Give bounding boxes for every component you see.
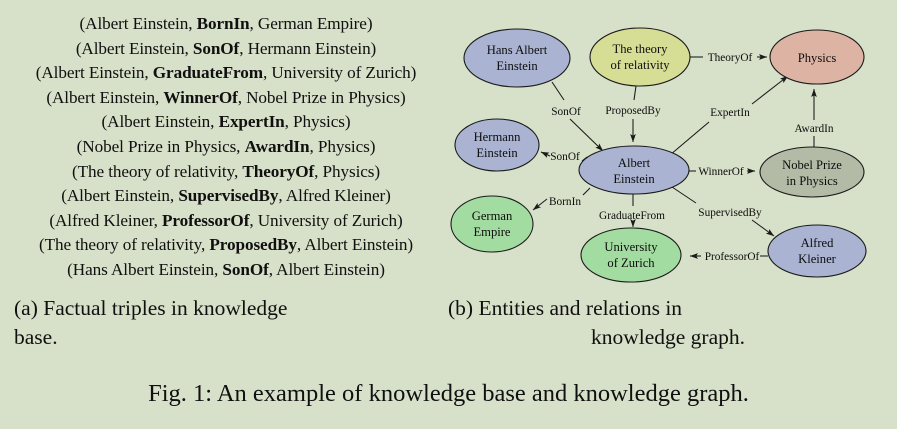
node-label-line1: Hans Albert (487, 43, 548, 57)
triple-row: (Albert Einstein, BornIn, German Empire) (0, 12, 452, 37)
triple-row: (Albert Einstein, GraduateFrom, Universi… (0, 61, 452, 86)
node-label-line2: Kleiner (798, 252, 837, 266)
triple-row: (Albert Einstein, SonOf, Hermann Einstei… (0, 37, 452, 62)
subcaption-b-line2: knowledge graph. (448, 323, 888, 352)
node-label-line2: of relativity (610, 58, 670, 72)
figure-container: (Albert Einstein, BornIn, German Empire)… (0, 0, 897, 429)
edge-label-winnerof: WinnerOf (698, 166, 744, 178)
node-ellipse[interactable] (760, 147, 864, 197)
triple-row: (Albert Einstein, SupervisedBy, Alfred K… (0, 184, 452, 209)
triple-row: (Albert Einstein, WinnerOf, Nobel Prize … (0, 86, 452, 111)
knowledge-graph-svg: TheoryOf ProposedBy ExpertIn AwardIn Son… (447, 0, 897, 290)
triple-subject: (Albert Einstein, (102, 112, 219, 131)
node-ellipse[interactable] (581, 228, 681, 282)
node-label-line1: German (472, 209, 513, 223)
triple-row: (Hans Albert Einstein, SonOf, Albert Ein… (0, 258, 452, 283)
triple-object: , Physics) (314, 162, 380, 181)
triple-object: , Physics) (309, 137, 375, 156)
node-label-line2: Empire (473, 225, 510, 239)
triples-list: (Albert Einstein, BornIn, German Empire)… (0, 12, 452, 283)
edge-expertin-lower (670, 122, 709, 155)
edge-label-bornin: BornIn (549, 196, 581, 208)
edge-label-theoryof: TheoryOf (708, 52, 753, 64)
node-alfred-kleiner[interactable]: Alfred Kleiner (768, 225, 866, 277)
edge-label-sonof-hans: SonOf (551, 106, 581, 118)
node-hans-albert-einstein[interactable]: Hans Albert Einstein (464, 29, 570, 87)
triple-object: , Albert Einstein) (269, 260, 385, 279)
triple-subject: (Albert Einstein, (46, 88, 163, 107)
subcaption-a-line1: (a) Factual triples in knowledge (14, 294, 434, 323)
node-hermann-einstein[interactable]: Hermann Einstein (455, 119, 539, 171)
triple-subject: (The theory of relativity, (72, 162, 242, 181)
triple-row: (The theory of relativity, TheoryOf, Phy… (0, 160, 452, 185)
triple-object: , Albert Einstein) (297, 235, 413, 254)
triple-object: , Physics) (285, 112, 351, 131)
triple-relation: SonOf (193, 39, 239, 58)
triple-row: (Nobel Prize in Physics, AwardIn, Physic… (0, 135, 452, 160)
node-ellipse[interactable] (579, 146, 689, 194)
node-ellipse[interactable] (464, 29, 570, 87)
edge-sonof-hans-lower (570, 119, 603, 151)
node-nobel-prize-in-physics[interactable]: Nobel Prize in Physics (760, 147, 864, 197)
triple-object: , Alfred Kleiner) (278, 186, 390, 205)
triple-relation: ExpertIn (219, 112, 285, 131)
node-label-line1: University (604, 240, 658, 254)
edge-label-awardin: AwardIn (794, 123, 833, 135)
triple-row: (The theory of relativity, ProposedBy, A… (0, 233, 452, 258)
node-label-line2: Einstein (496, 59, 538, 73)
subcaption-a-line2: base. (14, 323, 434, 352)
node-label-line2: in Physics (786, 174, 838, 188)
node-label-line1: Physics (798, 51, 837, 65)
edge-label-professorof: ProfessorOf (705, 251, 760, 263)
triple-object: , University of Zurich) (263, 63, 416, 82)
node-label-line1: Hermann (474, 130, 522, 144)
triple-subject: (Albert Einstein, (80, 14, 197, 33)
subcaption-b-line1: (b) Entities and relations in (448, 294, 888, 323)
edge-proposedby-top (634, 86, 636, 100)
triple-object: , Hermann Einstein) (239, 39, 376, 58)
node-ellipse[interactable] (455, 119, 539, 171)
triple-subject: (The theory of relativity, (39, 235, 209, 254)
triple-relation: GraduateFrom (153, 63, 263, 82)
node-label-line1: Albert (618, 156, 651, 170)
triple-object: , German Empire) (250, 14, 373, 33)
node-label-line1: Alfred (801, 236, 835, 250)
edge-label-sonof-hermann: SonOf (550, 151, 580, 163)
node-university-of-zurich[interactable]: University of Zurich (581, 228, 681, 282)
knowledge-graph: TheoryOf ProposedBy ExpertIn AwardIn Son… (447, 0, 897, 290)
triple-subject: (Nobel Prize in Physics, (77, 137, 245, 156)
triple-subject: (Alfred Kleiner, (49, 211, 162, 230)
node-label-line1: Nobel Prize (782, 158, 842, 172)
subcaption-b: (b) Entities and relations in knowledge … (448, 294, 888, 352)
subcaption-a: (a) Factual triples in knowledge base. (14, 294, 434, 352)
node-label-line2: Einstein (476, 146, 518, 160)
triple-row: (Alfred Kleiner, ProfessorOf, University… (0, 209, 452, 234)
triple-subject: (Albert Einstein, (76, 39, 193, 58)
triple-subject: (Albert Einstein, (61, 186, 178, 205)
edge-sonof-hermann-left (541, 152, 550, 156)
edge-label-graduatefrom: GraduateFrom (599, 210, 665, 222)
triple-relation: ProfessorOf (162, 211, 249, 230)
triple-relation: AwardIn (245, 137, 310, 156)
node-ellipse[interactable] (451, 196, 533, 252)
node-ellipse[interactable] (590, 28, 690, 86)
node-albert-einstein[interactable]: Albert Einstein (579, 146, 689, 194)
edge-sonof-hans-upper (552, 82, 564, 100)
edge-supervisedby-lower (752, 220, 774, 236)
triple-relation: TheoryOf (242, 162, 314, 181)
triple-relation: BornIn (197, 14, 250, 33)
node-label-line2: of Zurich (607, 256, 655, 270)
triple-object: , University of Zurich) (249, 211, 402, 230)
triple-relation: SonOf (222, 260, 268, 279)
node-the-theory-of-relativity[interactable]: The theory of relativity (590, 28, 690, 86)
triple-subject: (Hans Albert Einstein, (67, 260, 222, 279)
node-physics[interactable]: Physics (770, 30, 864, 84)
node-label-line2: Einstein (613, 172, 655, 186)
triple-relation: SupervisedBy (178, 186, 278, 205)
edge-supervisedby-upper (672, 187, 696, 203)
node-german-empire[interactable]: German Empire (451, 196, 533, 252)
edge-bornin-right (583, 188, 590, 195)
edge-label-expertin: ExpertIn (710, 107, 750, 119)
edge-bornin-left (533, 199, 547, 210)
triple-object: , Nobel Prize in Physics) (238, 88, 406, 107)
triple-subject: (Albert Einstein, (36, 63, 153, 82)
triple-relation: WinnerOf (163, 88, 237, 107)
edge-expertin-upper (752, 76, 788, 104)
node-label-line1: The theory (613, 42, 669, 56)
node-ellipse[interactable] (768, 225, 866, 277)
figure-caption: Fig. 1: An example of knowledge base and… (6, 378, 891, 410)
triple-relation: ProposedBy (209, 235, 297, 254)
edge-label-supervisedby: SupervisedBy (698, 207, 762, 219)
edge-label-proposedby: ProposedBy (605, 105, 661, 117)
triple-row: (Albert Einstein, ExpertIn, Physics) (0, 110, 452, 135)
